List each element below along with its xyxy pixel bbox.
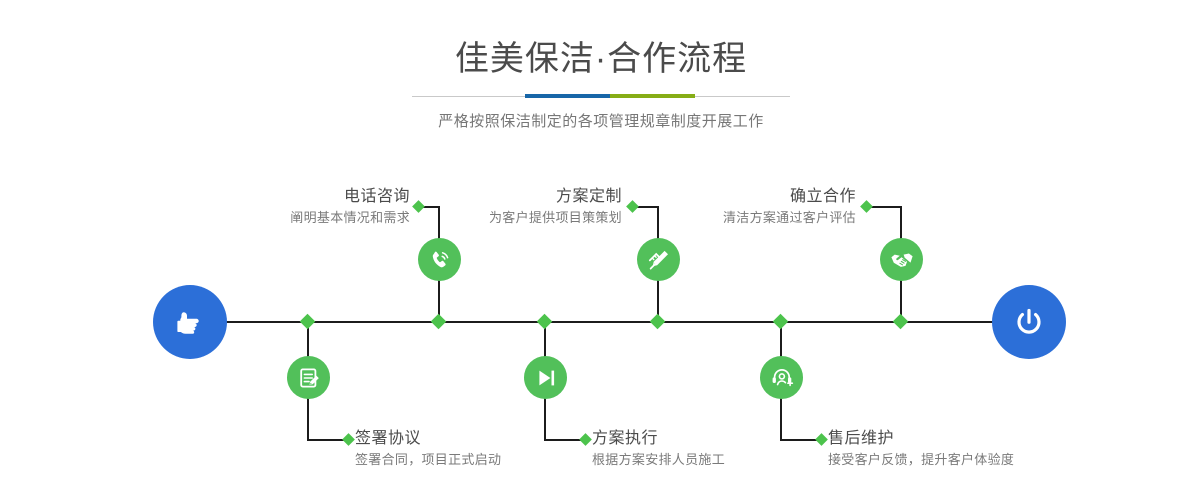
customer-service-add-icon xyxy=(769,365,795,391)
connector-vertical-cooperation-upper xyxy=(900,206,902,240)
power-icon xyxy=(1009,302,1049,342)
step-subtitle-establish-cooperation: 清洁方案通过客户评估 xyxy=(604,208,856,228)
connector-horizontal-cooperation xyxy=(868,206,902,208)
step-title-establish-cooperation: 确立合作 xyxy=(604,186,856,208)
pencil-ruler-icon xyxy=(646,247,672,273)
timeline-end-node xyxy=(992,285,1066,359)
axis-marker-sign-agreement xyxy=(300,314,316,330)
step-icon-after-sales[interactable] xyxy=(760,356,803,399)
step-icon-plan-execute[interactable] xyxy=(524,356,567,399)
step-subtitle-sign-agreement: 签署合同，项目正式启动 xyxy=(355,450,595,470)
step-label-after-sales: 售后维护 接受客户反馈，提升客户体验度 xyxy=(828,428,1078,470)
connector-vertical-sign-lower xyxy=(307,398,309,441)
step-subtitle-after-sales: 接受客户反馈，提升客户体验度 xyxy=(828,450,1078,470)
document-edit-icon xyxy=(296,365,322,391)
step-icon-plan-customize[interactable] xyxy=(637,238,680,281)
step-title-plan-customize: 方案定制 xyxy=(370,186,622,208)
axis-marker-plan-customize xyxy=(650,314,666,330)
play-next-icon xyxy=(533,365,559,391)
connector-vertical-after-sales-lower xyxy=(780,398,782,441)
axis-marker-establish-cooperation xyxy=(893,314,909,330)
step-label-plan-execute: 方案执行 根据方案安排人员施工 xyxy=(592,428,832,470)
step-subtitle-plan-execute: 根据方案安排人员施工 xyxy=(592,450,832,470)
handshake-icon xyxy=(889,247,915,273)
step-title-after-sales: 售后维护 xyxy=(828,428,1078,450)
step-label-plan-customize: 方案定制 为客户提供项目策策划 xyxy=(370,186,622,228)
timeline: 电话咨询 阐明基本情况和需求 签署协议 签署合同，项目正式启动 xyxy=(0,0,1202,502)
connector-vertical-phone-upper xyxy=(438,206,440,240)
label-marker-sign-agreement xyxy=(342,433,355,446)
timeline-start-node xyxy=(153,285,227,359)
cooperation-process-infographic: 佳美保洁·合作流程 严格按照保洁制定的各项管理规章制度开展工作 xyxy=(0,0,1202,502)
step-icon-establish-cooperation[interactable] xyxy=(880,238,923,281)
phone-call-icon xyxy=(427,247,453,273)
axis-marker-plan-execute xyxy=(537,314,553,330)
step-label-sign-agreement: 签署协议 签署合同，项目正式启动 xyxy=(355,428,595,470)
label-marker-establish-cooperation xyxy=(860,200,873,213)
step-icon-sign-agreement[interactable] xyxy=(287,356,330,399)
step-icon-phone-consult[interactable] xyxy=(418,238,461,281)
pointing-hand-icon xyxy=(170,302,210,342)
axis-marker-after-sales xyxy=(773,314,789,330)
connector-vertical-plan-upper xyxy=(657,206,659,240)
connector-vertical-execute-lower xyxy=(544,398,546,441)
axis-marker-phone-consult xyxy=(431,314,447,330)
step-subtitle-plan-customize: 为客户提供项目策策划 xyxy=(370,208,622,228)
